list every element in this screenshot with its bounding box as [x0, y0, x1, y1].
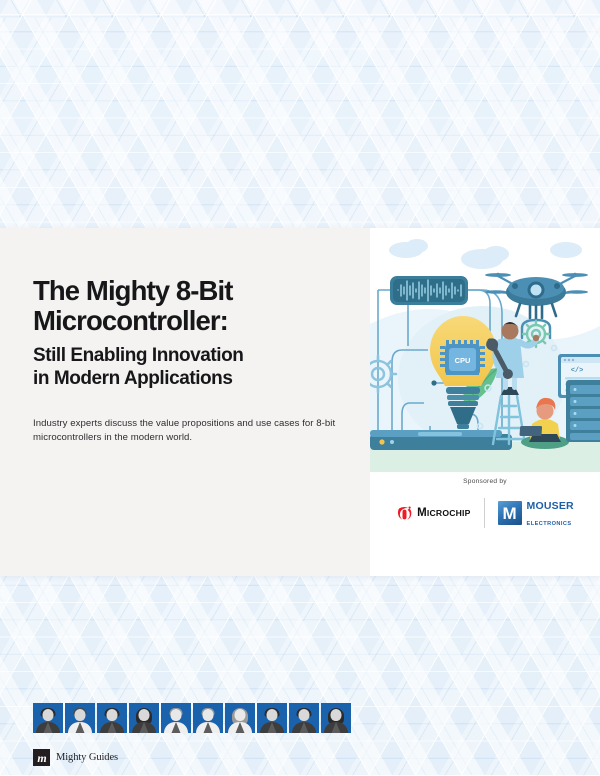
mighty-guides-mark-letter: m — [37, 752, 45, 764]
mouser-mark-icon: M — [498, 501, 522, 525]
cover-right-panel: CPU — [370, 228, 600, 576]
title-line-2: Microcontroller: — [33, 305, 228, 336]
avatar — [193, 703, 223, 733]
cover-left-panel: The Mighty 8-Bit Microcontroller: Still … — [0, 228, 370, 576]
mouser-wordmark-bottom: ELECTRONICS — [527, 521, 572, 527]
title-line-1: The Mighty 8-Bit — [33, 275, 232, 306]
svg-text:</>: </> — [571, 367, 584, 375]
mouser-wordmark: MOUSER ELECTRONICS — [527, 497, 574, 529]
subtitle-line-1: Still Enabling Innovation — [33, 345, 243, 366]
cover-description: Industry experts discuss the value propo… — [33, 417, 343, 446]
avatar — [289, 703, 319, 733]
cpu-chip: CPU — [440, 340, 485, 375]
avatar — [257, 703, 287, 733]
page-subtitle: Still Enabling Innovation in Modern Appl… — [33, 345, 346, 391]
mighty-guides-logo: m Mighty Guides — [33, 749, 118, 766]
microchip-mark-icon — [396, 505, 413, 522]
mighty-guides-wordmark: Mighty Guides — [56, 752, 118, 763]
sponsored-by-label: Sponsored by — [370, 478, 600, 485]
svg-text:CPU: CPU — [455, 356, 471, 365]
mouser-electronics-logo[interactable]: M MOUSER ELECTRONICS — [498, 497, 574, 529]
avatar — [129, 703, 159, 733]
mouser-mark-letter: M — [502, 505, 516, 522]
avatar — [33, 703, 63, 733]
waveform-display — [390, 276, 468, 305]
avatar — [65, 703, 95, 733]
mouser-wordmark-top: MOUSER — [527, 500, 574, 512]
microcontroller-innovation-illustration: CPU — [370, 228, 600, 472]
ebook-cover-card: The Mighty 8-Bit Microcontroller: Still … — [0, 228, 600, 576]
circuit-board — [370, 430, 512, 450]
microchip-logo[interactable]: MICROCHIP — [396, 505, 470, 522]
sponsor-divider — [484, 498, 485, 528]
subtitle-line-2: in Modern Applications — [33, 368, 232, 389]
mighty-guides-mark-icon: m — [33, 749, 50, 766]
microchip-wordmark: MICROCHIP — [417, 507, 470, 519]
contributor-avatar-strip — [33, 703, 351, 733]
sponsor-logo-row: MICROCHIP M MOUSER ELECTRONICS — [370, 497, 600, 529]
avatar — [161, 703, 191, 733]
sponsor-section: Sponsored by MICROCHIP — [370, 478, 600, 529]
avatar — [97, 703, 127, 733]
page-title: The Mighty 8-Bit Microcontroller: — [33, 276, 346, 336]
server-rack — [566, 380, 600, 442]
avatar — [225, 703, 255, 733]
avatar — [321, 703, 351, 733]
